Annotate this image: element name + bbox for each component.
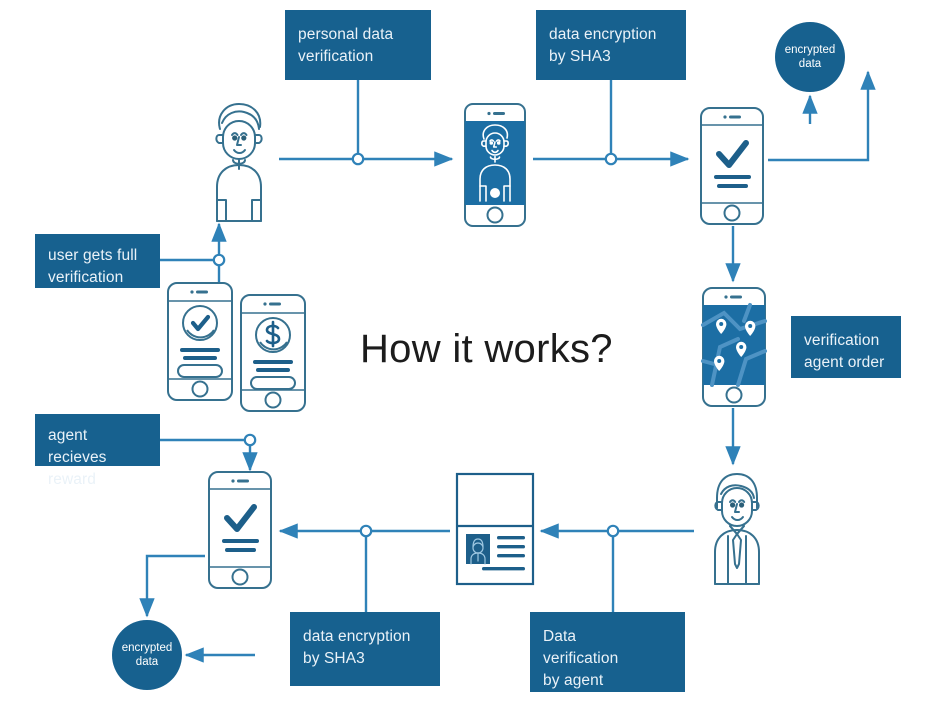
label-data-encryption-sha3-bottom: data encryption by SHA3 (290, 612, 440, 686)
identity-document-illustration (454, 471, 538, 587)
label-personal-data-verification: personal data verification (285, 10, 431, 80)
label-data-verification-by-agent: Data verification by agent (530, 612, 685, 692)
label-verification-agent-order: verification agent order (791, 316, 901, 378)
phone-selfie-capture-illustration (459, 101, 533, 229)
label-data-encryption-sha3-top: data encryption by SHA3 (536, 10, 686, 80)
phone-agent-map-illustration (698, 285, 772, 409)
phone-verified-check-illustration (695, 105, 771, 227)
verification-agent-avatar-illustration (697, 468, 777, 586)
diagram-canvas: personal data verification data encrypti… (0, 0, 930, 702)
phone-verified-check-bottom-illustration (203, 469, 279, 591)
label-user-gets-full-verification: user gets full verification (35, 234, 160, 288)
phone-reward-payout-illustration (236, 292, 312, 414)
label-agent-recieves-reward: agent recieves reward (35, 414, 160, 466)
node-encrypted-data-top: encrypted data (775, 22, 845, 92)
user-avatar-illustration (196, 99, 282, 225)
page-title: How it works? (360, 327, 613, 372)
phone-verification-result-illustration (163, 280, 239, 403)
node-encrypted-data-bottom: encrypted data (112, 620, 182, 690)
